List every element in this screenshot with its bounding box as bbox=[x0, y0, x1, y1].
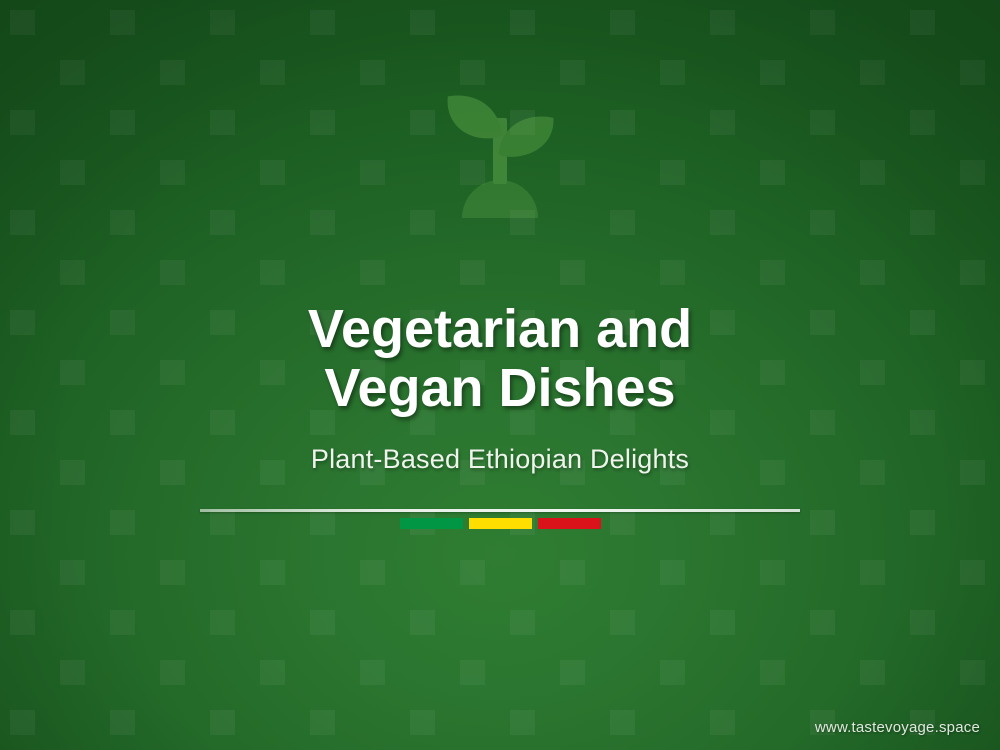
accent-bar-yellow bbox=[469, 518, 532, 529]
accent-bars bbox=[400, 518, 601, 529]
accent-bar-green bbox=[400, 518, 463, 529]
page-title: Vegetarian and Vegan Dishes bbox=[0, 300, 1000, 418]
page-title-line-1: Vegetarian and bbox=[0, 300, 1000, 359]
seedling-icon bbox=[432, 82, 568, 228]
title-slide: Vegetarian and Vegan Dishes Plant-Based … bbox=[0, 0, 1000, 750]
footer-website-url: www.tastevoyage.space bbox=[815, 719, 980, 736]
page-subtitle: Plant-Based Ethiopian Delights bbox=[0, 444, 1000, 475]
accent-bar-red bbox=[538, 518, 601, 529]
divider-rule bbox=[200, 509, 800, 512]
page-title-line-2: Vegan Dishes bbox=[0, 359, 1000, 418]
